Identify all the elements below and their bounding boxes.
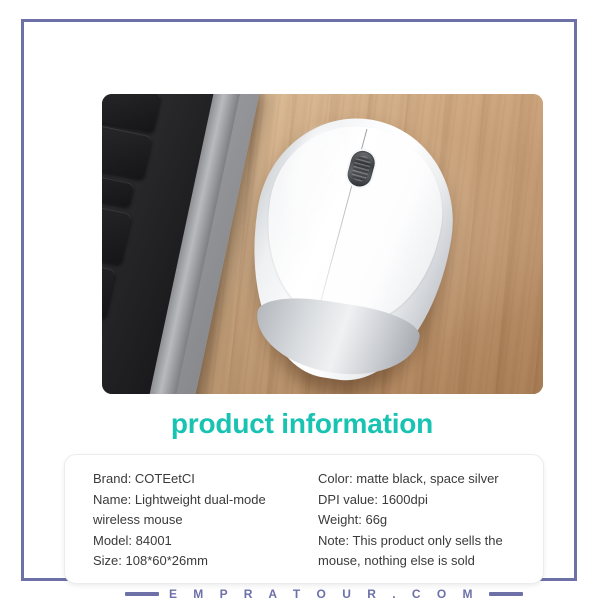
spec-line-weight: Weight: 66g — [318, 510, 543, 531]
footer-bar-right — [489, 592, 523, 596]
wireless-mouse — [232, 104, 468, 394]
product-photo: enter return shift — [102, 94, 543, 394]
spec-line-note: Note: This product only sells the — [318, 531, 543, 552]
spec-line-note-cont: mouse, nothing else is sold — [318, 551, 543, 572]
spec-column-right: Color: matte black, space silver DPI val… — [314, 455, 543, 583]
spec-line-size: Size: 108*60*26mm — [93, 551, 314, 572]
photo-inner: enter return shift — [102, 94, 543, 394]
spec-column-left: Brand: COTEetCI Name: Lightweight dual-m… — [65, 455, 314, 583]
spec-line-brand: Brand: COTEetCI — [93, 469, 314, 490]
spec-line-color: Color: matte black, space silver — [318, 469, 543, 490]
specification-card: Brand: COTEetCI Name: Lightweight dual-m… — [64, 454, 544, 584]
spec-line-name: Name: Lightweight dual-mode — [93, 490, 314, 511]
footer-site-name: E M P R A T O U R . C O M — [169, 587, 479, 601]
footer-watermark: E M P R A T O U R . C O M — [48, 585, 600, 603]
spec-line-name-cont: wireless mouse — [93, 510, 314, 531]
product-info-page: enter return shift — [0, 0, 600, 600]
page-title: product information — [48, 408, 556, 440]
outer-frame: enter return shift — [21, 19, 577, 581]
spec-line-dpi: DPI value: 1600dpi — [318, 490, 543, 511]
spec-line-model: Model: 84001 — [93, 531, 314, 552]
footer-bar-left — [125, 592, 159, 596]
